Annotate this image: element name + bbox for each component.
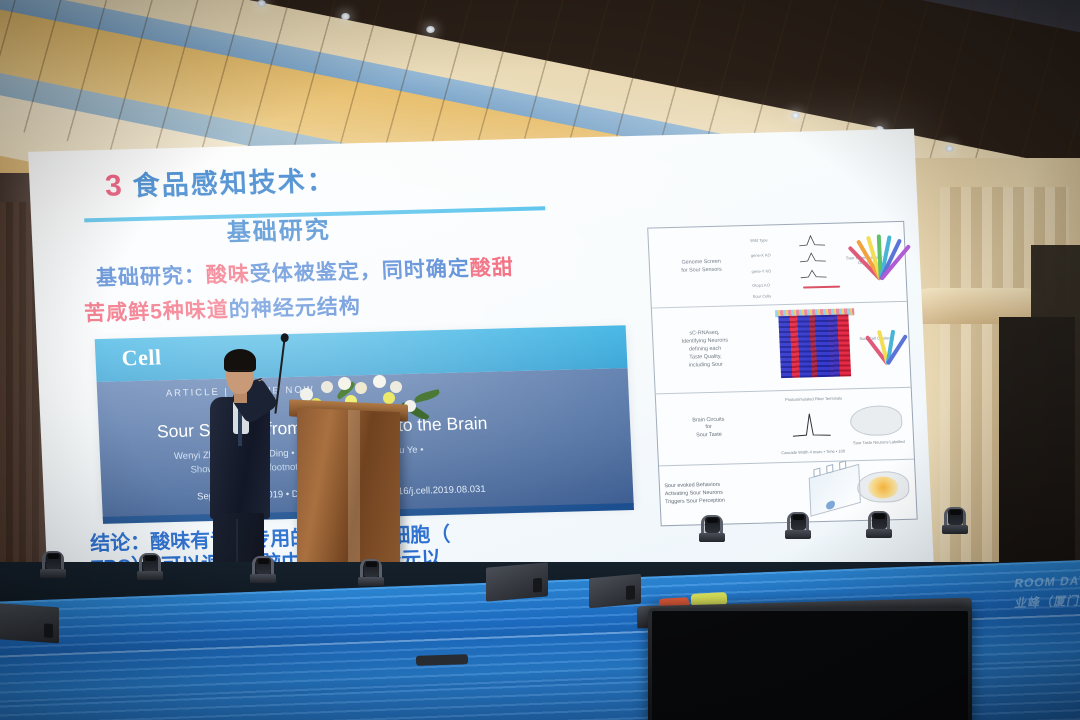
trace-label: Wild Type [750, 238, 768, 243]
subtitle-seg-e: 苦咸鲜5种味道 [84, 299, 230, 326]
moving-head-light [783, 505, 813, 539]
figure-row-3-annotation-right: Sour Taste Neurons Labelled [849, 439, 907, 446]
subtitle-seg-d: 酸甜 [469, 257, 514, 281]
flat-response-bar [803, 286, 840, 289]
trace-label: Sour Cells [752, 293, 771, 298]
moving-head-light [356, 552, 386, 586]
cluster-dots [864, 329, 905, 365]
speaker-glasses [228, 370, 252, 378]
conference-photo-scene: 3 食品感知技术： 基础研究 基础研究：酸味受体被鉴定，同时确定酸甜 苦咸鲜5种… [0, 0, 1080, 720]
slide-section-number: 3 [104, 170, 122, 204]
sour-cell-fan [857, 234, 899, 280]
figure-row-1-label: Genome Screenfor Sour Sensors [654, 258, 748, 276]
peak-trace [799, 232, 826, 249]
moving-head-light [864, 504, 894, 538]
behavior-assay-chamber [808, 464, 861, 518]
stage-monitor-speaker [486, 562, 548, 601]
floor-cable-duct [416, 654, 468, 666]
stage-monitor-speaker [589, 574, 641, 609]
figure-row-2-label: sC-RNAseq,Identifying Neuronsdefining ea… [657, 330, 753, 372]
expression-heatmap [778, 315, 851, 378]
assay-tube [838, 461, 845, 471]
assay-tube [813, 468, 820, 478]
ceiling-downlight [257, 0, 266, 7]
trace-label: gene-X KO [751, 252, 771, 258]
figure-row-scrnaseq: sC-RNAseq,Identifying Neuronsdefining ea… [652, 303, 911, 396]
figure-row-3-annotation-top: Photostimulated Fiber Terminals [785, 396, 842, 402]
research-figure-panel: Genome Screenfor Sour Sensors Wild Type … [647, 221, 917, 526]
photostim-peak-trace [791, 408, 831, 443]
figure-row-1-art: Wild Type gene-X KO gene-Y KO Otop1 KO S… [746, 226, 902, 303]
cell-journal-logo: Cell [121, 345, 162, 372]
peak-trace [800, 264, 827, 281]
figure-row-3-art: Photostimulated Fiber Terminals Cascade … [754, 392, 910, 460]
test-subject-icon [825, 500, 834, 511]
subtitle-seg-a: 基础研究： [95, 265, 206, 291]
figure-row-3-annotation-bottom: Cascade Width 4 msec • Time • 100 [781, 448, 845, 455]
monitor-screen [652, 611, 968, 720]
slide-section-title-part2: 基础研究 [226, 210, 332, 248]
brain-outline [849, 406, 902, 437]
peak-trace [799, 248, 826, 265]
moving-head-light [940, 500, 970, 534]
foreground-monitor [648, 608, 972, 720]
figure-row-2-art: Sour Cell Clusters [750, 306, 907, 389]
figure-row-3-label: Brain CircuitsforSour Taste [661, 416, 756, 442]
right-doorway [999, 317, 1075, 576]
figure-row-genome-screen: Genome Screenfor Sour Sensors Wild Type … [649, 223, 907, 310]
trace-label: Otop1 KO [752, 283, 770, 288]
figure-row-brain-circuits: Brain CircuitsforSour Taste Photostimula… [656, 388, 914, 466]
subtitle-seg-f: 的神经元结构 [228, 296, 361, 322]
assay-tube [825, 464, 832, 474]
ceiling-downlight [426, 26, 435, 33]
moving-head-light [135, 546, 165, 580]
moving-head-light [697, 508, 727, 542]
slide-section-title-part1: 食品感知技术： [132, 160, 337, 204]
trace-label: gene-Y KO [751, 269, 771, 275]
figure-row-4-label: Sour evoked BehaviorsActivating Sour Neu… [664, 481, 784, 508]
subtitle-seg-b: 酸味 [205, 263, 250, 287]
subtitle-seg-c: 受体被鉴定，同时确定 [249, 258, 470, 287]
moving-head-light [38, 544, 68, 578]
slide-title: 3 食品感知技术： [104, 160, 336, 205]
stage-monitor-speaker [0, 602, 59, 643]
moving-head-light [248, 549, 278, 583]
ceiling-downlight [791, 112, 800, 119]
